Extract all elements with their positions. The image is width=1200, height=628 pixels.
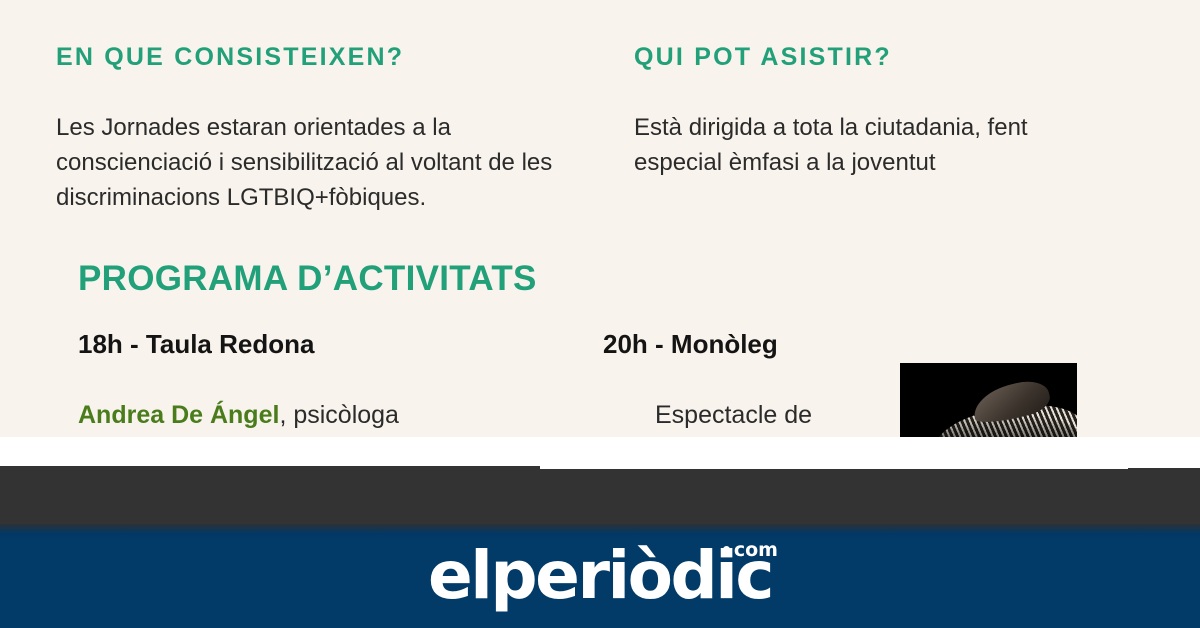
logo-dot-icon	[723, 546, 730, 553]
section-asistir: QUI POT ASISTIR? Està dirigida a tota la…	[634, 44, 1104, 180]
footer-logo-area[interactable]: elperiòdic com	[0, 524, 1200, 628]
logo-tld-text: com	[734, 539, 778, 561]
band-notch-left	[540, 466, 1128, 469]
logo-tld: com	[723, 541, 778, 560]
logo-wordmark: elperiòdic	[428, 537, 772, 614]
share-card: EN QUE CONSISTEIXEN? Les Jornades estara…	[0, 0, 1200, 628]
slot-time-18h: 18h - Taula Redona	[78, 330, 558, 359]
programme-title: PROGRAMA D’ACTIVITATS	[78, 261, 537, 296]
programme-slot-18h: 18h - Taula Redona Andrea De Ángel, psic…	[78, 330, 558, 433]
performer-photo	[900, 363, 1077, 437]
section-heading-consisteixen: EN QUE CONSISTEIXEN?	[56, 44, 576, 72]
section-body-consisteixen: Les Jornades estaran orientades a la con…	[56, 110, 576, 216]
slot-time-20h: 20h - Monòleg	[603, 330, 1083, 359]
slot-description-18h: Andrea De Ángel, psicòloga	[78, 397, 558, 433]
section-consisteixen: EN QUE CONSISTEIXEN? Les Jornades estara…	[56, 44, 576, 215]
band-notch-right	[1128, 466, 1200, 468]
dark-band	[0, 466, 1200, 528]
section-heading-asistir: QUI POT ASISTIR?	[634, 44, 1104, 72]
poster-region: EN QUE CONSISTEIXEN? Les Jornades estara…	[0, 0, 1200, 437]
elperiodic-logo[interactable]: elperiòdic com	[428, 543, 772, 609]
section-body-asistir: Està dirigida a tota la ciutadania, fent…	[634, 110, 1104, 181]
page-gap	[0, 437, 1200, 468]
site-footer: elperiòdic com	[0, 524, 1200, 628]
poster-content: EN QUE CONSISTEIXEN? Les Jornades estara…	[0, 0, 1200, 437]
slot-speaker-18h: Andrea De Ángel	[78, 401, 279, 429]
slot-role-18h: , psicòloga	[279, 401, 399, 429]
